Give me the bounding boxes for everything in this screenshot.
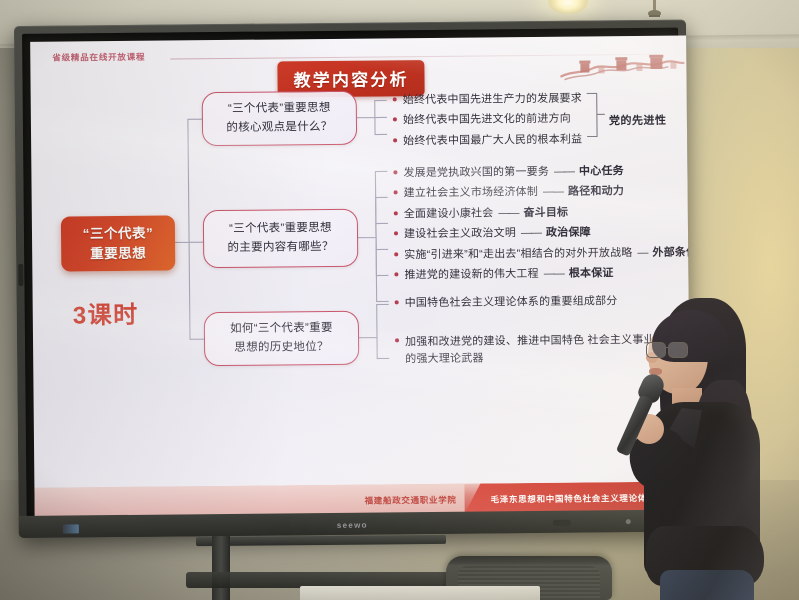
presentation-slide: 省级精品在线开放课程 教学内容分析 <box>30 36 691 518</box>
bullet-group-1: 始终代表中国先进生产力的发展要求 始终代表中国先进文化的前进方向 始终代表中国最… <box>393 91 583 154</box>
q1-line1: “三个代表”重要思想 <box>228 102 331 115</box>
q2-line1: “三个代表”重要思想 <box>229 222 332 235</box>
list-item: 发展是党执政兴国的第一要务 —— 中心任务 <box>393 162 690 182</box>
q3-line1: 如何“三个代表”重要 <box>230 322 333 335</box>
bullet-dot-icon <box>393 118 397 122</box>
group1-brace-label: 党的先进性 <box>609 112 667 129</box>
g2-item-6-tag: 根本保证 <box>569 265 614 283</box>
classroom-photo: 省级精品在线开放课程 教学内容分析 <box>0 0 799 600</box>
bullet-dot-icon <box>393 138 397 142</box>
list-item: 始终代表中国先进生产力的发展要求 <box>393 91 582 110</box>
dash-separator: —— <box>554 164 574 182</box>
front-desk <box>300 586 540 600</box>
g2-item-2-text: 建立社会主义市场经济体制 <box>404 184 539 203</box>
list-item: 全面建设小康社会 —— 奋斗目标 <box>394 203 691 223</box>
g2-item-4-tag: 政治保障 <box>546 225 591 243</box>
list-item: 建设社会主义政治文明 —— 政治保障 <box>394 224 691 244</box>
g1-item-3: 始终代表中国最广大人民的根本利益 <box>403 131 582 150</box>
g1-item-1: 始终代表中国先进生产力的发展要求 <box>403 91 582 110</box>
bullet-dot-icon <box>394 231 398 235</box>
g2-item-3-tag: 奋斗目标 <box>523 204 568 222</box>
eyeglasses-icon <box>646 342 688 357</box>
g2-item-4-text: 建设社会主义政治文明 <box>404 225 516 243</box>
display-side-button[interactable] <box>18 264 23 286</box>
g2-item-5-tag: 外部条件 <box>652 244 690 262</box>
bullet-dot-icon <box>394 252 398 256</box>
list-item: 始终代表中国先进文化的前进方向 <box>393 111 582 130</box>
bullet-group-2: 发展是党执政兴国的第一要务 —— 中心任务 建立社会主义市场经济体制 —— 路径… <box>393 162 690 287</box>
list-item: 推进党的建设新的伟大工程 —— 根本保证 <box>394 264 690 284</box>
display-stand-column <box>212 536 230 600</box>
list-item: 始终代表中国最广大人民的根本利益 <box>393 131 582 150</box>
bullet-dot-icon <box>393 97 397 101</box>
dash-separator: —— <box>498 205 518 223</box>
g2-item-1-tag: 中心任务 <box>579 163 624 181</box>
question-box-1: “三个代表”重要思想 的核心观点是什么？ <box>202 91 358 146</box>
dash-separator: —— <box>544 266 564 284</box>
bullet-dot-icon <box>395 300 399 304</box>
g2-item-1-text: 发展是党执政兴国的第一要务 <box>403 164 549 183</box>
question-box-2: “三个代表”重要思想 的主要内容有哪些？ <box>203 209 359 268</box>
display-status-led <box>63 524 79 533</box>
q1-line2: 的核心观点是什么？ <box>226 121 332 134</box>
list-item: 实施“引进来”和“走出去”相结合的对外开放战略 — 外部条件 <box>394 244 691 264</box>
jeans <box>660 570 754 600</box>
g2-item-5-text: 实施“引进来”和“走出去”相结合的对外开放战略 <box>404 245 632 265</box>
question-box-3: 如何“三个代表”重要 思想的历史地位？ <box>204 311 360 366</box>
lesson-hours: 3课时 <box>73 295 139 331</box>
g1-item-2: 始终代表中国先进文化的前进方向 <box>403 111 571 130</box>
g2-item-2-tag: 路径和动力 <box>568 184 624 202</box>
q3-line2: 思想的历史地位？ <box>234 341 329 354</box>
dash-separator: —— <box>543 184 563 202</box>
g2-item-6-text: 推进党的建设新的伟大工程 <box>404 266 539 285</box>
bullet-dot-icon <box>394 191 398 195</box>
q2-line2: 的主要内容有哪些？ <box>227 241 333 254</box>
mindmap-core-node: “三个代表” 重要思想 <box>61 215 176 271</box>
slide-kicker: 省级精品在线开放课程 <box>52 51 145 64</box>
great-wall-ink-icon <box>558 54 686 85</box>
interactive-display[interactable]: 省级精品在线开放课程 教学内容分析 <box>14 20 691 538</box>
g2-item-3-text: 全面建设小康社会 <box>404 205 494 223</box>
bullet-dot-icon <box>394 211 398 215</box>
footer-organization: 福建船政交通职业学院 <box>365 494 457 507</box>
core-node-line1: “三个代表” <box>83 224 154 244</box>
bullet-dot-icon <box>393 170 397 174</box>
dash-separator: — <box>637 244 647 261</box>
core-node-line2: 重要思想 <box>90 243 146 263</box>
bullet-dot-icon <box>394 272 398 276</box>
presenter <box>616 290 784 600</box>
dash-separator: —— <box>521 225 541 243</box>
display-ir-sensor <box>553 520 571 526</box>
bullet-dot-icon <box>395 339 399 343</box>
display-brand-label: seewo <box>337 521 368 530</box>
g3-item-1: 中国特色社会主义理论体系的重要组成部分 <box>405 293 618 312</box>
list-item: 建立社会主义市场经济体制 —— 路径和动力 <box>394 183 691 203</box>
